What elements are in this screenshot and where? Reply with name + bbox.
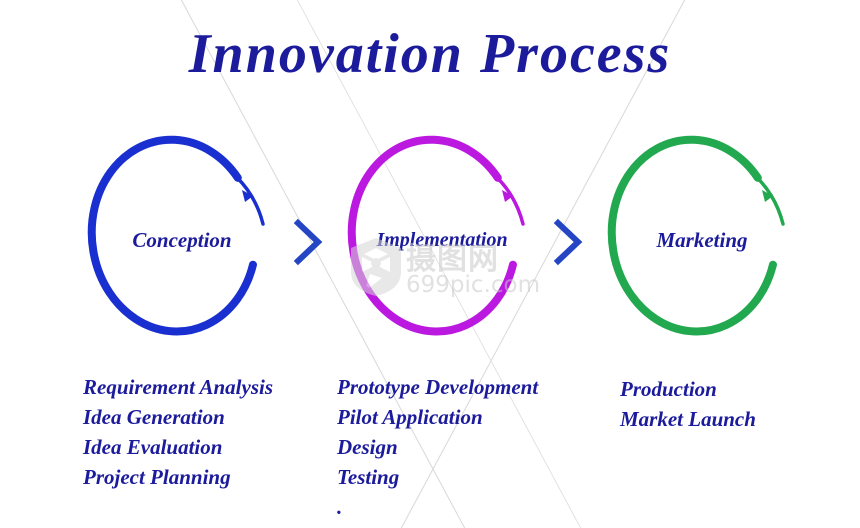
stage-label: Implementation <box>342 140 542 340</box>
list-item: Prototype Development <box>337 372 538 402</box>
stage-item-list-conception: Requirement Analysis Idea Generation Ide… <box>83 372 273 492</box>
list-item: Idea Generation <box>83 402 273 432</box>
list-item: Idea Evaluation <box>83 432 273 462</box>
list-item: Market Launch <box>620 404 756 434</box>
chevron-right-icon <box>291 218 325 266</box>
stage-marketing[interactable]: Marketing <box>602 140 802 340</box>
page-title: Innovation Process <box>0 22 860 86</box>
list-item: . <box>337 492 538 522</box>
stage-conception[interactable]: Conception <box>82 140 282 340</box>
list-item: Pilot Application <box>337 402 538 432</box>
stage-label: Conception <box>82 140 282 340</box>
list-item: Design <box>337 432 538 462</box>
chevron-right-icon <box>551 218 585 266</box>
list-item: Project Planning <box>83 462 273 492</box>
list-item: Requirement Analysis <box>83 372 273 402</box>
stage-item-list-implementation: Prototype Development Pilot Application … <box>337 372 538 522</box>
stage-implementation[interactable]: Implementation <box>342 140 542 340</box>
innovation-process-diagram: Innovation Process Conception Implementa… <box>0 0 860 528</box>
list-item: Testing <box>337 462 538 492</box>
stage-item-list-marketing: Production Market Launch <box>620 374 756 434</box>
list-item: Production <box>620 374 756 404</box>
stage-label: Marketing <box>602 140 802 340</box>
